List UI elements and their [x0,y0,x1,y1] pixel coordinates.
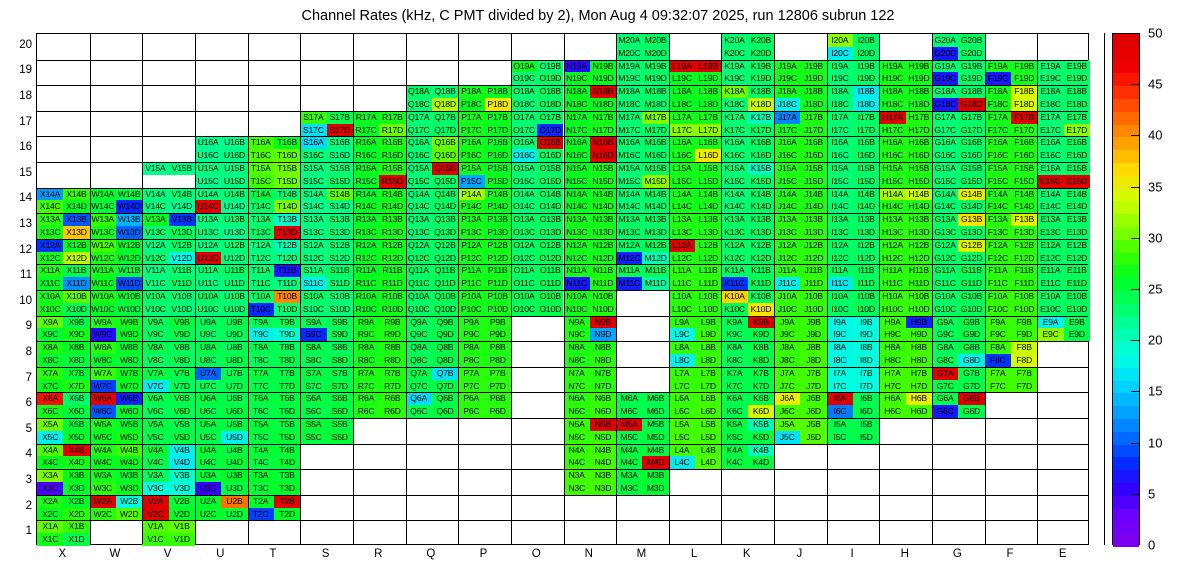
channel-cell: I15A [827,162,853,175]
y-axis: 2019181716151413121110987654321 [0,33,32,545]
channel-cell: L12C [669,252,695,265]
channel-cell: V11A [142,264,168,277]
channel-cell: G17A [932,111,958,124]
channel-cell: G20C [932,47,958,60]
channel-cell: S17B [327,111,353,124]
channel-cell: U15B [221,162,247,175]
colorbar-segment [1113,316,1139,330]
channel-cell: T13B [274,213,300,226]
channel-cell: F19A [985,60,1011,73]
channel-cell: N9D [590,328,616,341]
colorbar-segment [1113,149,1139,163]
y-axis-label: 9 [6,320,32,332]
channel-cell: X9C [37,328,63,341]
channel-cell: X12B [63,239,89,252]
channel-cell: L8B [695,341,721,354]
channel-cell: K16B [748,136,774,149]
channel-cell: S12D [327,252,353,265]
channel-cell: L14B [695,188,721,201]
channel-cell: L8A [669,341,695,354]
channel-cell: U15C [195,175,221,188]
channel-cell: I20B [853,34,879,47]
channel-cell: H12D [906,252,932,265]
channel-cell: M13C [616,226,642,239]
x-axis-label: J [772,548,826,560]
channel-cell: X9D [63,328,89,341]
channel-cell: F16B [1011,136,1037,149]
channel-cell: F16D [1011,149,1037,162]
channel-cell: S8B [327,341,353,354]
channel-cell: M18B [642,85,668,98]
channel-cell: W8B [116,341,142,354]
channel-cell: E12D [1064,252,1090,265]
channel-cell: O13B [537,213,563,226]
channel-cell: F11D [1011,277,1037,290]
channel-cell: L4A [669,444,695,457]
channel-cell: J18C [774,98,800,111]
channel-cell: R9C [353,328,379,341]
plot-title: Channel Rates (kHz, C PMT divided by 2),… [0,8,1196,24]
channel-cell: X12C [37,252,63,265]
channel-cell: G16A [932,136,958,149]
channel-cell: P18D [485,98,511,111]
channel-rates-plot: Channel Rates (kHz, C PMT divided by 2),… [0,0,1196,572]
channel-cell: G18C [932,98,958,111]
channel-cell: X1A [37,520,63,533]
channel-cell: F7B [1011,367,1037,380]
channel-cell: R6A [353,392,379,405]
channel-cell: O18D [537,98,563,111]
channel-cell: W9A [90,316,116,329]
channel-cell: L7D [695,380,721,393]
channel-cell: S10D [327,303,353,316]
channel-cell: M6C [616,405,642,418]
channel-cell: K4D [748,456,774,469]
y-axis-label: 5 [6,423,32,435]
channel-cell: H16C [879,149,905,162]
channel-cell: V14B [169,188,195,201]
channel-cell: P18C [458,98,484,111]
channel-cell: W13A [90,213,116,226]
channel-cell: M18C [616,98,642,111]
channel-cell: T10A [248,290,274,303]
channel-cell: S15D [327,175,353,188]
channel-cell: U16C [195,149,221,162]
channel-cell: K9A [721,316,747,329]
channel-cell: V15A [142,162,168,175]
channel-cell: X10A [37,290,63,303]
channel-cell: F8C [985,354,1011,367]
channel-cell: N9B [590,316,616,329]
channel-cell: H11B [906,264,932,277]
channel-cell: S5C [300,431,326,444]
channel-cell: M16C [616,149,642,162]
channel-cell: X5B [63,418,89,431]
channel-cell: X12A [37,239,63,252]
colorbar-segment [1113,85,1139,99]
channel-cell: V4A [142,444,168,457]
channel-cell: R13B [379,213,405,226]
y-axis-label: 19 [6,64,32,76]
colorbar-segment [1113,98,1139,112]
channel-cell: O10B [537,290,563,303]
channel-cell: M13D [642,226,668,239]
channel-cell: L15C [669,175,695,188]
channel-cell: I5D [853,431,879,444]
channel-cell: R10C [353,303,379,316]
channel-cell: O16D [537,149,563,162]
channel-cell: F13C [985,226,1011,239]
channel-cell: J10A [774,290,800,303]
channel-cell: J5B [800,418,826,431]
channel-cell: E18A [1037,85,1063,98]
channel-cell: R7B [379,367,405,380]
channel-cell: P7D [485,380,511,393]
channel-cell: X9B [63,316,89,329]
channel-cell: G7C [932,380,958,393]
channel-cell: I12A [827,239,853,252]
channel-cell: Q16B [432,136,458,149]
channel-cell: U9C [195,328,221,341]
channel-cell: N16C [564,149,590,162]
channel-cell: M6B [642,392,668,405]
channel-cell: X3A [37,469,63,482]
channel-cell: J7C [774,380,800,393]
channel-cell: S15A [300,162,326,175]
channel-cell: K7D [748,380,774,393]
channel-cell: R13A [353,213,379,226]
channel-cell: H8A [879,341,905,354]
channel-cell: R11A [353,264,379,277]
channel-cell: J10C [774,303,800,316]
channel-cell: Q6A [406,392,432,405]
channel-cell: K11A [721,264,747,277]
channel-cell: U6B [221,392,247,405]
channel-cell: F11B [1011,264,1037,277]
channel-cell: W12A [90,239,116,252]
channel-cell: W5C [90,431,116,444]
colorbar-segment [1113,136,1139,150]
channel-cell: H15C [879,175,905,188]
channel-cell: G12A [932,239,958,252]
channel-cell: M19B [642,60,668,73]
channel-cell: F16A [985,136,1011,149]
channel-cell: V14D [169,200,195,213]
channel-cell: V1B [169,520,195,533]
channel-cell: U16A [195,136,221,149]
channel-cell: K14C [721,200,747,213]
channel-cell: L4C [669,456,695,469]
channel-cell: K14D [748,200,774,213]
channel-cell: Q8A [406,341,432,354]
channel-cell: N4D [590,456,616,469]
channel-cell: T11D [274,277,300,290]
x-axis-label: G [930,548,984,560]
channel-cell: L12A [669,239,695,252]
colorbar-segment [1113,47,1139,61]
channel-cell: O17A [511,111,537,124]
channel-cell: S7B [327,367,353,380]
channel-cell: K15A [721,162,747,175]
channel-cell: X2D [63,508,89,521]
channel-cell: G6A [932,392,958,405]
channel-cell: K10C [721,303,747,316]
channel-cell: Q15A [406,162,432,175]
channel-cell: K17D [748,124,774,137]
channel-cell: U2D [221,508,247,521]
channel-cell: G14D [958,200,984,213]
colorbar-segment [1113,392,1139,406]
channel-cell: X9A [37,316,63,329]
channel-cell: V12A [142,239,168,252]
channel-cell: H16D [906,149,932,162]
y-axis-label: 7 [6,372,32,384]
channel-cell: N8D [590,354,616,367]
channel-cell: U14D [221,200,247,213]
channel-cell: V14A [142,188,168,201]
channel-cell: H17B [906,111,932,124]
channel-cell: R6D [379,405,405,418]
channel-cell: N15B [590,162,616,175]
colorbar-axis: 05101520253035404550 [1140,33,1192,545]
channel-cell: G8C [932,354,958,367]
channel-cell: L4D [695,456,721,469]
channel-cell: T14A [248,188,274,201]
channel-cell: U4A [195,444,221,457]
x-axis: XWVUTSRQPONMLKJIHGFE [36,546,1089,568]
channel-cell: X14B [63,188,89,201]
channel-cell: T15B [274,162,300,175]
channel-cell: S14A [300,188,326,201]
channel-cell: I16A [827,136,853,149]
channel-cell: U7C [195,380,221,393]
y-axis-label: 17 [6,116,32,128]
channel-cell: P10A [458,290,484,303]
colorbar-segment [1113,508,1139,522]
channel-cell: N19C [564,72,590,85]
channel-cell: Q8D [432,354,458,367]
channel-cell: W12B [116,239,142,252]
channel-cell: T10C [248,303,274,316]
channel-cell: P9C [458,328,484,341]
channel-cell: U6D [221,405,247,418]
channel-cell: Q12A [406,239,432,252]
channel-cell: L19C [669,72,695,85]
channel-cell: M12B [642,239,668,252]
channel-cell: R7D [379,380,405,393]
channel-cell: N8A [564,341,590,354]
channel-cell: Q8C [406,354,432,367]
channel-cell: T6A [248,392,274,405]
channel-cell: H19B [906,60,932,73]
channel-cell: U2C [195,508,221,521]
channel-cell: K8C [721,354,747,367]
channel-cell: G19D [958,72,984,85]
channel-cell: W6C [90,405,116,418]
channel-cell: X8D [63,354,89,367]
channel-cell: O10D [537,303,563,316]
channel-cell: I16C [827,149,853,162]
channel-cell: Q11A [406,264,432,277]
channel-cell: X4D [63,456,89,469]
channel-cell: G11B [958,264,984,277]
channel-cell: I19B [853,60,879,73]
channel-cell: R10B [379,290,405,303]
channel-cell: W14D [116,200,142,213]
channel-cell: H9B [906,316,932,329]
channel-cell: Q14D [432,200,458,213]
channel-cell: W3B [116,469,142,482]
channel-cell: X13D [63,226,89,239]
channel-cell: U6C [195,405,221,418]
x-axis-label: X [35,548,89,560]
channel-cell: K7A [721,367,747,380]
channel-cell: L9D [695,328,721,341]
channel-cell: P15D [485,175,511,188]
channel-cell: S6D [327,405,353,418]
channel-cell: P17D [485,124,511,137]
channel-cell: N3D [590,482,616,495]
channel-cell: O11D [537,277,563,290]
channel-cell: I9B [853,316,879,329]
channel-cell: H8D [906,354,932,367]
channel-cell: X12D [63,252,89,265]
channel-cell: W4A [90,444,116,457]
channel-cell: Q14C [406,200,432,213]
channel-cell: U15D [221,175,247,188]
channel-cell: K4C [721,456,747,469]
channel-cell: X3D [63,482,89,495]
channel-cell: I9D [853,328,879,341]
channel-cell: E15A [1037,162,1063,175]
channel-cell: K16D [748,149,774,162]
channel-cell: R17B [379,111,405,124]
channel-cell: K16C [721,149,747,162]
channel-cell: W5A [90,418,116,431]
channel-cell: J14D [800,200,826,213]
channel-cell: S13D [327,226,353,239]
channel-cell: L16A [669,136,695,149]
colorbar-tick [1131,187,1140,188]
channel-cell: X5C [37,431,63,444]
channel-cell: Q18C [406,98,432,111]
channel-cell: H13C [879,226,905,239]
channel-cell: M19D [642,72,668,85]
channel-cell: H10C [879,303,905,316]
channel-cell: T7B [274,367,300,380]
channel-cell: I10D [853,303,879,316]
channel-cell: N16D [590,149,616,162]
channel-cell: V10C [142,303,168,316]
channel-cell: P13B [485,213,511,226]
channel-cell: H14B [906,188,932,201]
channel-cell: L10B [695,290,721,303]
y-axis-label: 10 [6,295,32,307]
channel-cell: U3B [221,469,247,482]
channel-cell: O10A [511,290,537,303]
channel-cell: L19A [669,60,695,73]
channel-cell: N6A [564,392,590,405]
channel-cell: N10D [590,303,616,316]
colorbar-axis-line [1104,33,1105,545]
channel-cell: J15B [800,162,826,175]
channel-cell: E11A [1037,264,1063,277]
channel-cell: R13C [353,226,379,239]
channel-cell: W2A [90,495,116,508]
channel-cell: G10B [958,290,984,303]
y-axis-label: 20 [6,39,32,51]
channel-cell: M11D [642,277,668,290]
channel-cell: I7C [827,380,853,393]
channel-cell: R14C [353,200,379,213]
x-axis-label: E [1036,548,1090,560]
channel-cell: N13B [590,213,616,226]
channel-cell: F11C [985,277,1011,290]
channel-cell: O12B [537,239,563,252]
channel-cell: F7A [985,367,1011,380]
channel-cell: L16C [669,149,695,162]
channel-cell: Q10D [432,303,458,316]
channel-cell: P18A [458,85,484,98]
channel-cell: L5A [669,418,695,431]
channel-cell: T5B [274,418,300,431]
channel-cell: E19C [1037,72,1063,85]
channel-cell: G18A [932,85,958,98]
channel-cell: Q11D [432,277,458,290]
channel-cell: R15D [379,175,405,188]
channel-cell: H9A [879,316,905,329]
channel-cell: U2B [221,495,247,508]
channel-cell: F18A [985,85,1011,98]
channel-cell: J8C [774,354,800,367]
channel-cell: W11D [116,277,142,290]
channel-cell: M17D [642,124,668,137]
channel-cell: W12C [90,252,116,265]
channel-cell: W2C [90,508,116,521]
channel-cell: P6B [485,392,511,405]
channel-cell: E19A [1037,60,1063,73]
channel-cell: T9C [248,328,274,341]
channel-cell: Q12D [432,252,458,265]
channel-cell: F16C [985,149,1011,162]
channel-cell: U7A [195,367,221,380]
channel-cell: L16B [695,136,721,149]
channel-cell: J8B [800,341,826,354]
channel-cell: X11D [63,277,89,290]
channel-cell: W14C [90,200,116,213]
channel-cell: U15A [195,162,221,175]
channel-cell: I14A [827,188,853,201]
channel-cell: R11C [353,277,379,290]
channel-cell: K11C [721,277,747,290]
channel-cell: P12C [458,252,484,265]
colorbar-tick [1131,238,1140,239]
channel-cell: J8A [774,341,800,354]
channel-cell: K14A [721,188,747,201]
heatmap-cells: X14AX14BX14CX14DX13AX13BX13CX13DX12AX12B… [37,34,1088,544]
channel-cell: P10C [458,303,484,316]
channel-cell: L6C [669,405,695,418]
channel-cell: H7C [879,380,905,393]
channel-cell: N14C [564,200,590,213]
channel-cell: H17A [879,111,905,124]
channel-cell: S14D [327,200,353,213]
y-axis-label: 11 [6,269,32,281]
channel-cell: J15C [774,175,800,188]
channel-cell: E14A [1037,188,1063,201]
channel-cell: I13A [827,213,853,226]
channel-cell: N18C [564,98,590,111]
